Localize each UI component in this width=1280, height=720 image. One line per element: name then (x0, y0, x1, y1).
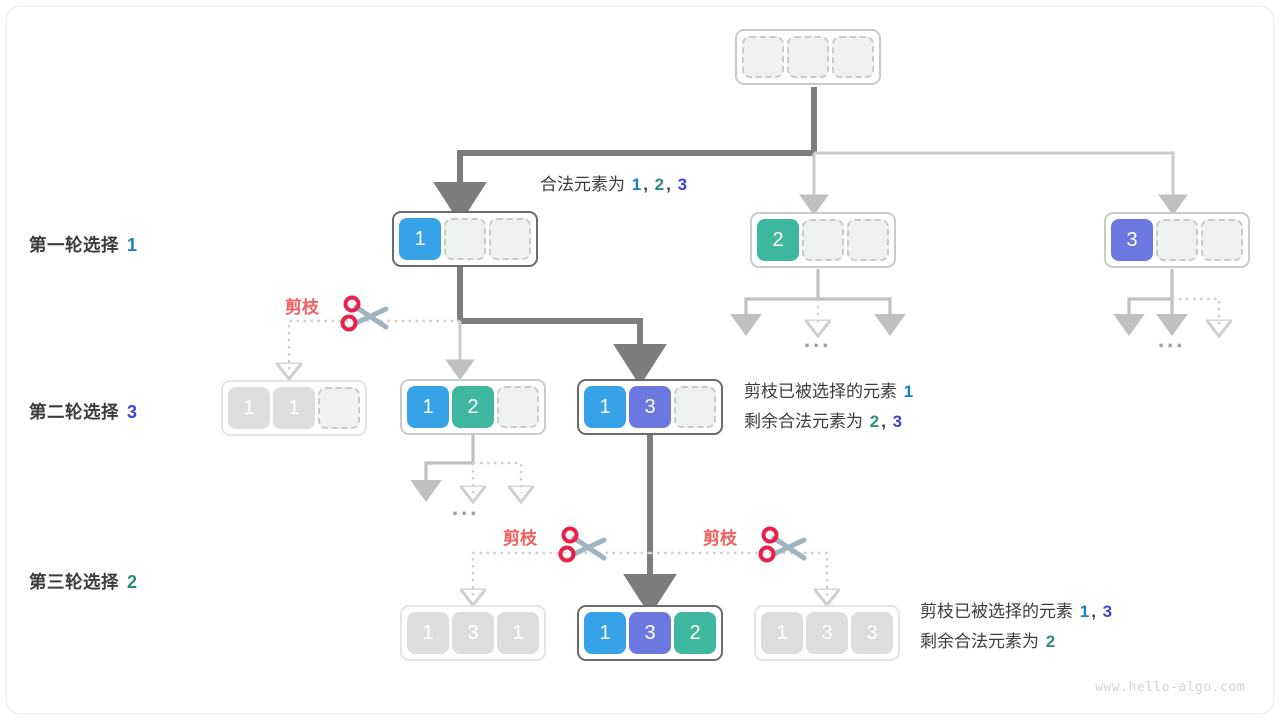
scissors-icon-2 (552, 526, 612, 572)
array-cell: 3 (851, 612, 893, 654)
row-label-value: 1 (127, 235, 138, 255)
scissors-icon-1 (334, 295, 394, 341)
array-cell: 2 (757, 219, 799, 261)
note-line-2: 剩余合法元素为 2 (920, 627, 1114, 657)
note-value: 3 (678, 175, 687, 194)
array-cell (1201, 219, 1243, 261)
note-value: 2 (1046, 632, 1055, 651)
node-level3-pruned-133: 133 (754, 605, 900, 661)
note-value: 1 (1080, 602, 1089, 621)
prune-label-2: 剪枝 (503, 524, 537, 549)
note-value: 1 (904, 382, 913, 401)
node-level1-3: 3 (1104, 212, 1250, 268)
array-cell: 1 (497, 612, 539, 654)
note-level-1: 合法元素为 1, 2, 3 (540, 170, 689, 200)
ellipsis-under-node-12: ... (452, 495, 479, 521)
row-label-text: 第三轮选择 (29, 572, 119, 592)
node-level2-12: 12 (400, 379, 546, 435)
array-cell (318, 387, 360, 429)
note-value: 3 (893, 412, 902, 431)
diagram-stage: 剪枝 剪枝 剪枝 第一轮选择1 第二轮选择3 第三轮选择2 合法元素为 1, 2… (7, 7, 1273, 713)
array-cell: 3 (629, 386, 671, 428)
array-cell (444, 218, 486, 260)
node-level2-13: 13 (577, 379, 723, 435)
node-level1-2: 2 (750, 212, 896, 268)
array-cell (832, 36, 874, 78)
array-cell: 1 (584, 386, 626, 428)
array-cell: 1 (584, 612, 626, 654)
array-cell: 2 (674, 612, 716, 654)
row-label-value: 2 (127, 572, 138, 592)
array-cell (489, 218, 531, 260)
row-label-text: 第二轮选择 (29, 402, 119, 422)
note-line-2: 剩余合法元素为 2, 3 (744, 407, 915, 437)
prune-label-1: 剪枝 (285, 293, 319, 318)
prune-label-3: 剪枝 (703, 524, 737, 549)
array-cell (787, 36, 829, 78)
array-cell: 1 (273, 387, 315, 429)
note-value: 2 (870, 412, 879, 431)
note-prefix: 剪枝已被选择的元素 (920, 602, 1073, 621)
note-line-1: 剪枝已被选择的元素 1, 3 (920, 597, 1114, 627)
note-level-3: 剪枝已被选择的元素 1, 3 剩余合法元素为 2 (920, 597, 1114, 657)
array-cell: 1 (228, 387, 270, 429)
diagram-frame: 剪枝 剪枝 剪枝 第一轮选择1 第二轮选择3 第三轮选择2 合法元素为 1, 2… (6, 6, 1274, 714)
note-prefix: 剩余合法元素为 (920, 632, 1039, 651)
scissors-icon-3 (752, 526, 812, 572)
array-cell (497, 386, 539, 428)
node-level1-1: 1 (392, 211, 538, 267)
ellipsis-under-node-2: ... (804, 327, 831, 353)
note-value: 2 (655, 175, 664, 194)
note-prefix: 合法元素为 (540, 175, 625, 194)
array-cell: 2 (452, 386, 494, 428)
row-label-text: 第一轮选择 (29, 235, 119, 255)
array-cell (674, 386, 716, 428)
node-level3-132: 132 (577, 605, 723, 661)
array-cell: 1 (407, 612, 449, 654)
node-root (735, 29, 881, 85)
node-level3-pruned-131: 131 (400, 605, 546, 661)
watermark: www.hello-algo.com (1095, 680, 1245, 695)
array-cell: 3 (452, 612, 494, 654)
row-label-round-2: 第二轮选择3 (29, 399, 138, 424)
note-value: 1 (632, 175, 641, 194)
array-cell: 3 (629, 612, 671, 654)
array-cell (802, 219, 844, 261)
note-value: 3 (1103, 602, 1112, 621)
array-cell: 1 (399, 218, 441, 260)
note-prefix: 剪枝已被选择的元素 (744, 382, 897, 401)
node-level2-pruned-11: 11 (221, 380, 367, 436)
array-cell (1156, 219, 1198, 261)
row-label-round-3: 第三轮选择2 (29, 569, 138, 594)
note-level-2: 剪枝已被选择的元素 1 剩余合法元素为 2, 3 (744, 377, 915, 437)
row-label-value: 3 (127, 402, 138, 422)
row-label-round-1: 第一轮选择1 (29, 232, 138, 257)
array-cell (742, 36, 784, 78)
array-cell: 3 (806, 612, 848, 654)
array-cell: 1 (407, 386, 449, 428)
note-line-1: 剪枝已被选择的元素 1 (744, 377, 915, 407)
ellipsis-under-node-3: ... (1158, 327, 1185, 353)
array-cell: 1 (761, 612, 803, 654)
array-cell: 3 (1111, 219, 1153, 261)
note-prefix: 剩余合法元素为 (744, 412, 863, 431)
array-cell (847, 219, 889, 261)
